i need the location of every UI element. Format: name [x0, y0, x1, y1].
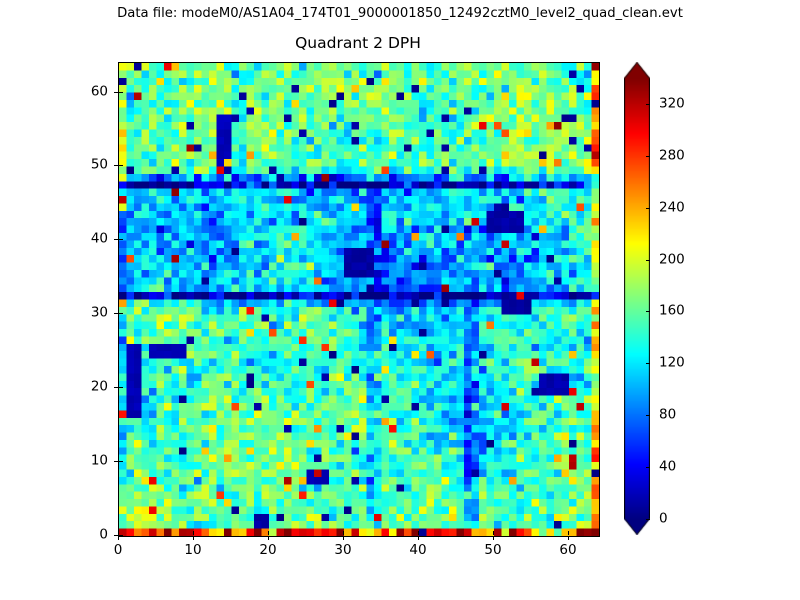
x-tick-label: 10	[184, 543, 201, 558]
y-tick-label: 30	[76, 306, 108, 321]
colorbar-tick-mark	[646, 104, 650, 105]
colorbar-tick-mark	[646, 311, 650, 312]
x-tick-mark	[118, 536, 119, 540]
y-tick-mark	[114, 535, 118, 536]
colorbar[interactable]	[624, 62, 650, 535]
colorbar-tick-label: 240	[659, 200, 685, 215]
x-tick-mark	[343, 536, 344, 540]
colorbar-tick-mark	[646, 156, 650, 157]
y-tick-label: 0	[76, 528, 108, 543]
x-tick-mark	[568, 536, 569, 540]
y-tick-mark-inner	[119, 461, 123, 462]
x-tick-label: 50	[484, 543, 501, 558]
x-tick-label: 0	[114, 543, 123, 558]
x-tick-mark	[418, 536, 419, 540]
y-tick-mark	[114, 313, 118, 314]
figure-canvas: Data file: modeM0/AS1A04_174T01_90000018…	[0, 0, 800, 600]
x-tick-label: 60	[559, 543, 576, 558]
y-tick-mark-inner	[119, 92, 123, 93]
x-tick-mark-inner	[568, 531, 569, 535]
x-tick-mark-inner	[193, 531, 194, 535]
y-tick-label: 50	[76, 158, 108, 173]
colorbar-tick-mark	[646, 415, 650, 416]
y-tick-mark-inner	[119, 313, 123, 314]
x-tick-mark-inner	[493, 531, 494, 535]
colorbar-tick-label: 120	[659, 356, 685, 371]
y-tick-mark-inner	[119, 165, 123, 166]
heatmap-axes[interactable]	[118, 62, 600, 537]
x-tick-label: 20	[259, 543, 276, 558]
y-tick-mark	[114, 461, 118, 462]
x-tick-label: 30	[334, 543, 351, 558]
plot-title: Quadrant 2 DPH	[118, 33, 598, 53]
y-tick-label: 20	[76, 380, 108, 395]
colorbar-tick-label: 160	[659, 304, 685, 319]
x-tick-mark	[193, 536, 194, 540]
y-tick-mark	[114, 239, 118, 240]
y-tick-mark-inner	[119, 239, 123, 240]
colorbar-tick-mark	[646, 208, 650, 209]
colorbar-tick-mark	[646, 519, 650, 520]
y-tick-mark	[114, 387, 118, 388]
data-file-suptitle: Data file: modeM0/AS1A04_174T01_90000018…	[0, 6, 800, 22]
colorbar-tick-label: 80	[659, 408, 676, 423]
colorbar-tick-mark	[646, 467, 650, 468]
x-tick-mark-inner	[418, 531, 419, 535]
y-tick-label: 40	[76, 232, 108, 247]
colorbar-tick-mark	[646, 260, 650, 261]
colorbar-tick-label: 280	[659, 148, 685, 163]
x-tick-label: 40	[409, 543, 426, 558]
y-tick-mark-inner	[119, 535, 123, 536]
colorbar-tick-label: 320	[659, 96, 685, 111]
y-tick-mark	[114, 92, 118, 93]
y-tick-mark	[114, 165, 118, 166]
x-tick-mark	[493, 536, 494, 540]
y-tick-label: 60	[76, 84, 108, 99]
x-tick-mark	[268, 536, 269, 540]
colorbar-gradient	[624, 62, 650, 535]
colorbar-tick-label: 0	[659, 512, 668, 527]
x-tick-mark-inner	[268, 531, 269, 535]
y-tick-label: 10	[76, 454, 108, 469]
colorbar-tick-label: 40	[659, 460, 676, 475]
x-tick-mark-inner	[343, 531, 344, 535]
colorbar-tick-mark	[646, 363, 650, 364]
colorbar-tick-label: 200	[659, 252, 685, 267]
y-tick-mark-inner	[119, 387, 123, 388]
detector-pixel-heatmap[interactable]	[119, 63, 599, 536]
